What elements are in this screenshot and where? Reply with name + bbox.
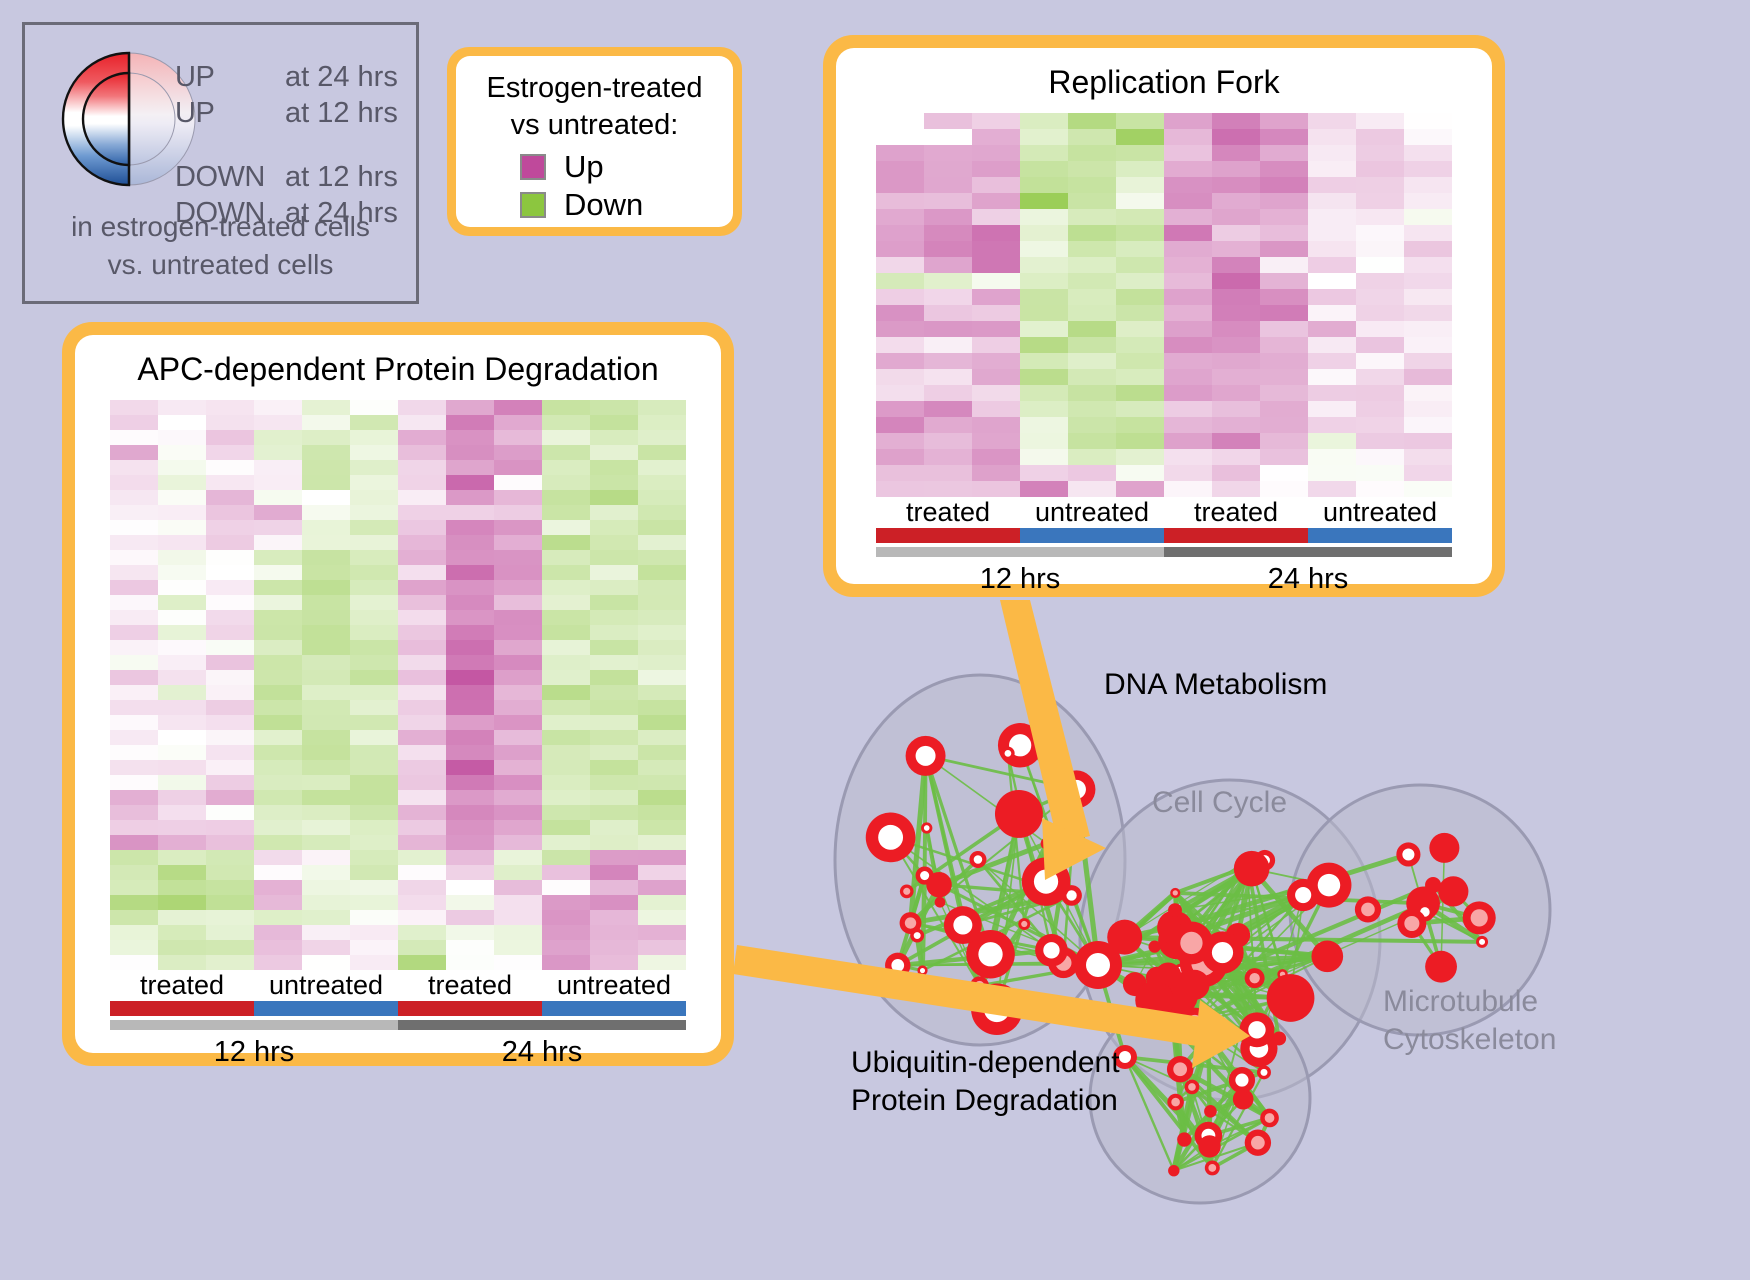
heatmap-cell [542,460,590,475]
heatmap-cell [590,655,638,670]
heatmap-cell [494,805,542,820]
heatmap-cell [494,595,542,610]
heatmap-cell [590,835,638,850]
heatmap-cell [1116,177,1164,193]
heatmap-cell [876,225,924,241]
heatmap-cell [972,401,1020,417]
heatmap-cell [206,595,254,610]
heatmap-cell [398,625,446,640]
heatmap-cell [972,161,1020,177]
heatmap-cell [446,565,494,580]
heatmap-cell [206,460,254,475]
heatmap-cell [542,640,590,655]
heatmap-cell [206,685,254,700]
heatmap-cell [398,475,446,490]
network-node-core [905,917,916,928]
heatmap-cell [350,475,398,490]
heatmap-cell [1212,433,1260,449]
heatmap-cell [110,910,158,925]
condition-bar [1020,528,1164,543]
heatmap-cell [398,955,446,970]
heatmap-cell [1020,481,1068,497]
heatmap-cell [1404,353,1452,369]
network-node [1168,1165,1179,1176]
heatmap-cell [446,955,494,970]
heatmap-cell [158,835,206,850]
heatmap-cell [638,670,686,685]
heatmap-cell [158,775,206,790]
heatmap-cell [350,550,398,565]
heatmap-cell [494,700,542,715]
color-key-row: DOWN at 12 hrs [175,161,415,197]
heatmap-cell [1404,417,1452,433]
heatmap-cell [494,475,542,490]
heatmap-cell [1116,449,1164,465]
heatmap-cell [158,670,206,685]
heatmap-cell [494,835,542,850]
network-node-core [1170,1023,1177,1030]
heatmap-cell [1020,401,1068,417]
heatmap-cell [350,430,398,445]
heatmap-cell [972,225,1020,241]
condition-label: treated [110,970,254,1001]
heatmap-cell [158,940,206,955]
color-key-footer-line2: vs. untreated cells [25,246,416,284]
network-node-core [1402,848,1414,860]
heatmap-cell [1068,369,1116,385]
condition-bar [398,1001,542,1016]
heatmap-cell [350,460,398,475]
heatmap-cell [206,505,254,520]
heatmap-cell [972,193,1020,209]
heatmap-cell [876,145,924,161]
heatmap-cell [590,685,638,700]
heatmap-cell [638,835,686,850]
heatmap-cell [110,640,158,655]
heatmap-cell [1068,257,1116,273]
heatmap-cell [1260,465,1308,481]
heatmap-cell [446,670,494,685]
timepoint-label: 12 hrs [110,1030,398,1069]
heatmap-cell [1308,321,1356,337]
heatmap-cell [350,850,398,865]
heatmap-cell [398,415,446,430]
heatmap-cell [638,565,686,580]
heatmap-cell [494,820,542,835]
heatmap-cell [1308,417,1356,433]
network-node-core [1208,1164,1216,1172]
heatmap-cell [254,685,302,700]
timepoint-labels-replication-fork: 12 hrs24 hrs [876,557,1452,596]
heatmap-cell [542,685,590,700]
heatmap-cell [1116,481,1164,497]
heatmap-cell [542,880,590,895]
network-node [1198,1135,1220,1157]
heatmap-cell [254,670,302,685]
heatmap-cell [590,475,638,490]
network-node-core [1295,887,1311,903]
heatmap-cell [1212,289,1260,305]
heatmap-cell [924,241,972,257]
heatmap-cell [1116,145,1164,161]
heatmap-cell [110,655,158,670]
heatmap-cell [924,193,972,209]
heatmap-cell [350,880,398,895]
heatmap-cell [1068,129,1116,145]
heatmap-cell [446,475,494,490]
heatmap-cell [924,289,972,305]
heatmap-cell [590,880,638,895]
heatmap-cell [1164,353,1212,369]
heatmap-cell [446,715,494,730]
heatmap-cell [398,565,446,580]
heatmap-cell [1356,161,1404,177]
legend-swatch-up-icon [520,154,546,180]
heatmap-cell [876,417,924,433]
timepoint-label: 24 hrs [398,1030,686,1069]
heatmap-cell [302,850,350,865]
network-node-core [1005,750,1012,757]
heatmap-cell [494,535,542,550]
heatmap-cell [590,805,638,820]
network-node-core [1086,953,1110,977]
legend-label-up: Up [564,149,604,185]
condition-bar [1308,528,1452,543]
heatmap-cell [1404,193,1452,209]
condition-bar [876,528,1020,543]
network-node [1146,967,1168,989]
cluster-label-ubiquitin-degradation: Ubiquitin-dependent Protein Degradation [851,1044,1120,1120]
heatmap-cell [494,715,542,730]
heatmap-cell [1212,145,1260,161]
heatmap-cell [1404,177,1452,193]
heatmap-cell [398,820,446,835]
heatmap-cell [302,490,350,505]
network-node-core [1173,890,1178,895]
heatmap-cell [398,760,446,775]
heatmap-cell [876,273,924,289]
cluster-label-ubiquitin-line1: Ubiquitin-dependent [851,1044,1120,1082]
heatmap-cell [446,535,494,550]
heatmap-cell [924,209,972,225]
heatmap-cell [542,595,590,610]
heatmap-cell [542,865,590,880]
heatmap-cell [254,790,302,805]
heatmap-cell [1212,449,1260,465]
heatmap-cell [254,775,302,790]
heatmap-cell [446,580,494,595]
heatmap-cell [1308,385,1356,401]
heatmap-cell [398,850,446,865]
heatmap-cell [1116,385,1164,401]
heatmap-cell [1212,209,1260,225]
heatmap-cell [254,715,302,730]
heatmap-cell [1212,337,1260,353]
heatmap-cell [542,610,590,625]
heatmap-cell [302,745,350,760]
panel-title-replication-fork: Replication Fork [1048,64,1279,101]
heatmap-cell [1164,177,1212,193]
heatmap-cell [1116,401,1164,417]
heatmap-cell [1020,257,1068,273]
heatmap-cell [542,400,590,415]
heatmap-cell [494,445,542,460]
heatmap-cell [542,790,590,805]
heatmap-cell [542,520,590,535]
heatmap-cell [398,685,446,700]
heatmap-cell [590,520,638,535]
heatmap-cell [1356,385,1404,401]
heatmap-cell [446,820,494,835]
heatmap-cell [590,955,638,970]
condition-label: treated [876,497,1020,528]
heatmap-cell [972,305,1020,321]
heatmap-cell [158,790,206,805]
heatmap-cell [638,535,686,550]
heatmap-cell [110,880,158,895]
heatmap-cell [302,940,350,955]
heatmap-cell [1068,353,1116,369]
heatmap-cell [1308,369,1356,385]
heatmap-cell [1116,161,1164,177]
heatmap-apc-degradation [110,400,686,970]
heatmap-cell [876,193,924,209]
heatmap-cell [1404,113,1452,129]
heatmap-cell [1356,433,1404,449]
heatmap-cell [1356,257,1404,273]
heatmap-cell [1020,465,1068,481]
network-node-core [1260,1069,1267,1076]
panel-title-apc: APC-dependent Protein Degradation [137,351,658,388]
heatmap-cell [302,820,350,835]
heatmap-cell [542,940,590,955]
heatmap-cell [350,580,398,595]
heatmap-cell [1068,449,1116,465]
heatmap-cell [494,865,542,880]
heatmap-cell [1212,273,1260,289]
heatmap-cell [1356,449,1404,465]
heatmap-cell [110,715,158,730]
heatmap-cell [350,400,398,415]
heatmap-cell [1164,273,1212,289]
heatmap-cell [1308,305,1356,321]
heatmap-cell [302,610,350,625]
heatmap-cell [1308,161,1356,177]
heatmap-cell [590,790,638,805]
heatmap-cell [206,940,254,955]
network-node [1429,833,1459,863]
heatmap-cell [542,775,590,790]
heatmap-cell [972,385,1020,401]
heatmap-cell [1260,113,1308,129]
network-node-core [1248,1021,1265,1038]
heatmap-cell [110,745,158,760]
heatmap-cell [446,595,494,610]
heatmap-cell [1212,257,1260,273]
heatmap-cell [590,640,638,655]
heatmap-cell [254,760,302,775]
heatmap-cell [1068,113,1116,129]
heatmap-cell [972,369,1020,385]
heatmap-cell [158,955,206,970]
heatmap-cell [1260,481,1308,497]
heatmap-cell [542,910,590,925]
heatmap-cell [542,700,590,715]
heatmap-cell [1404,449,1452,465]
heatmap-cell [254,730,302,745]
heatmap-cell [110,580,158,595]
heatmap-cell [1116,465,1164,481]
heatmap-cell [1308,401,1356,417]
heatmap-cell [1212,113,1260,129]
heatmap-cell [924,481,972,497]
heatmap-cell [446,640,494,655]
heatmap-cell [590,850,638,865]
heatmap-cell [972,289,1020,305]
heatmap-cell [446,415,494,430]
heatmap-cell [158,490,206,505]
heatmap-cell [590,940,638,955]
heatmap-cell [1020,161,1068,177]
heatmap-cell [924,337,972,353]
timepoint-label: 24 hrs [1164,557,1452,596]
heatmap-cell [1356,337,1404,353]
heatmap-cell [254,475,302,490]
heatmap-cell [446,520,494,535]
heatmap-cell [302,910,350,925]
heatmap-cell [1068,385,1116,401]
heatmap-cell [1356,145,1404,161]
network-node-core [1021,921,1027,927]
heatmap-cell [638,760,686,775]
heatmap-cell [924,161,972,177]
heatmap-cell [1068,401,1116,417]
condition-bars-apc [110,1001,686,1016]
heatmap-cell [254,505,302,520]
heatmap-cell [1404,337,1452,353]
heatmap-cell [494,760,542,775]
network-node-core [920,871,929,880]
heatmap-cell [1308,209,1356,225]
heatmap-cell [1356,321,1404,337]
heatmap-cell [590,445,638,460]
heatmap-cell [446,430,494,445]
heatmap-cell [206,805,254,820]
heatmap-cell [1116,433,1164,449]
heatmap-cell [1404,273,1452,289]
heatmap-cell [542,580,590,595]
network-node-core [1404,916,1419,931]
heatmap-cell [1020,145,1068,161]
heatmap-cell [1116,241,1164,257]
heatmap-cell [1356,193,1404,209]
heatmap-cell [1020,385,1068,401]
heatmap-cell [1308,289,1356,305]
heatmap-cell [254,940,302,955]
heatmap-cell [638,640,686,655]
network-node [1425,951,1457,983]
heatmap-cell [972,417,1020,433]
heatmap-cell [638,955,686,970]
heatmap-cell [110,550,158,565]
heatmap-cell [1356,401,1404,417]
heatmap-cell [398,775,446,790]
network-node-core [1043,942,1059,958]
key-direction: UP [175,61,285,94]
color-key-footer-line1: in estrogen-treated cells [25,208,416,246]
heatmap-cell [972,257,1020,273]
heatmap-cell [590,550,638,565]
heatmap-cell [206,865,254,880]
heatmap-cell [254,640,302,655]
heatmap-cell [158,820,206,835]
heatmap-cell [1260,225,1308,241]
condition-label: untreated [254,970,398,1001]
condition-label: untreated [1308,497,1452,528]
heatmap-cell [876,401,924,417]
heatmap-cell [1020,129,1068,145]
heatmap-cell [302,715,350,730]
heatmap-cell [158,445,206,460]
heatmap-cell [206,640,254,655]
heatmap-cell [1356,225,1404,241]
heatmap-cell [350,730,398,745]
heatmap-cell [1164,385,1212,401]
heatmap-cell [542,760,590,775]
heatmap-cell [254,460,302,475]
heatmap-cell [1356,273,1404,289]
heatmap-cell [110,685,158,700]
heatmap-cell [1260,209,1308,225]
heatmap-cell [1020,241,1068,257]
heatmap-cell [302,400,350,415]
heatmap-cell [1404,145,1452,161]
heatmap-cell [924,257,972,273]
heatmap-cell [542,550,590,565]
heatmap-cell [542,820,590,835]
heatmap-cell [1116,305,1164,321]
heatmap-cell [302,580,350,595]
heatmap-cell [398,595,446,610]
heatmap-cell [350,835,398,850]
heatmap-cell [254,700,302,715]
heatmap-cell [1404,161,1452,177]
condition-bars-replication-fork [876,528,1452,543]
heatmap-cell [302,760,350,775]
network-node-core [1265,1113,1275,1123]
heatmap-cell [302,535,350,550]
heatmap-cell [206,820,254,835]
heatmap-cell [638,625,686,640]
network-node-core [1067,780,1086,799]
heatmap-cell [494,640,542,655]
heatmap-cell [638,925,686,940]
heatmap-cell [1116,209,1164,225]
heatmap-cell [494,490,542,505]
color-key-footer: in estrogen-treated cells vs. untreated … [25,208,416,284]
heatmap-cell [542,565,590,580]
heatmap-cell [446,625,494,640]
heatmap-cell [1212,353,1260,369]
heatmap-cell [1164,465,1212,481]
heatmap-cell [494,880,542,895]
network-node-core [1173,1062,1187,1076]
heatmap-cell [1212,305,1260,321]
network-node-core [1251,1136,1265,1150]
heatmap-cell [876,305,924,321]
network-node-core [1187,1015,1203,1031]
heatmap-cell [1404,241,1452,257]
